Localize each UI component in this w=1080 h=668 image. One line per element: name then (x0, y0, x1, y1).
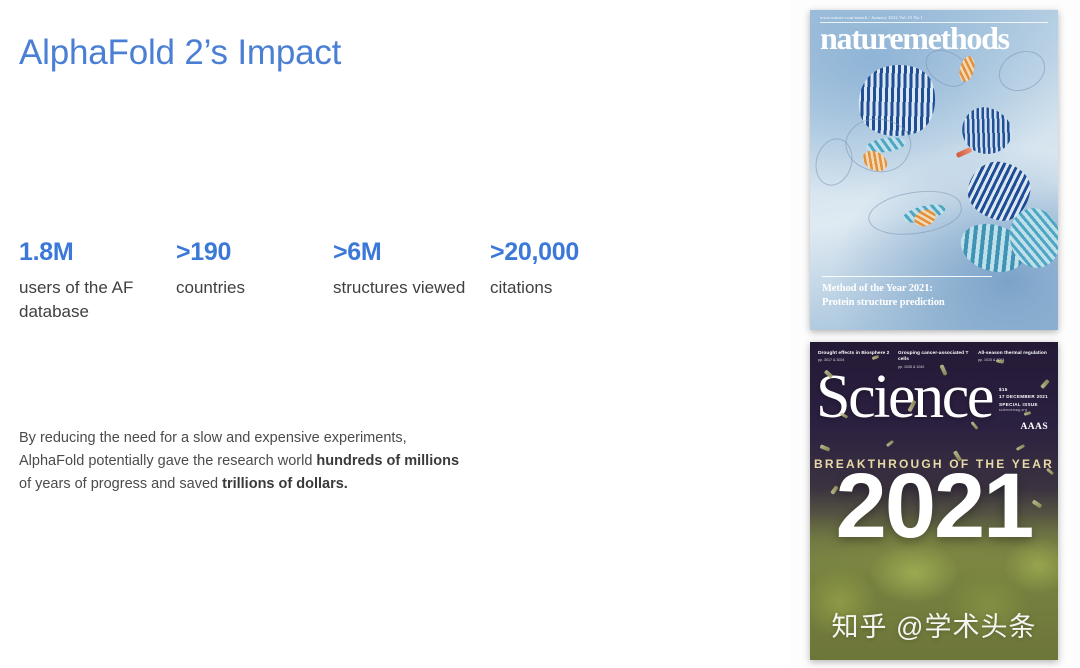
summary-paragraph: By reducing the need for a slow and expe… (19, 427, 619, 496)
stat-label: structures viewed (333, 276, 473, 301)
stat-value: 1.8M (19, 238, 176, 267)
teaser-pages: pp. 1015 & 1064 (978, 358, 1050, 362)
teaser-title: Grouping cancer-associated T cells (898, 351, 970, 364)
issue-date: 17 DECEMBER 2021 (999, 393, 1048, 400)
science-cover-image: Drought effects in Biosphere 2 pp. 3017 … (810, 342, 1058, 660)
teaser-pages: pp. 3017 & 3024 (818, 358, 890, 362)
stat-value: >190 (176, 238, 333, 267)
caption-line-2: Protein structure prediction (822, 296, 992, 310)
stat-item-structures-viewed: >6M structures viewed (333, 238, 490, 325)
summary-line-2-prefix: AlphaFold potentially gave the research … (19, 453, 316, 469)
science-issue-info: $15 17 DECEMBER 2021 SPECIAL ISSUE scien… (999, 386, 1048, 413)
masthead-word-nature: nature (820, 20, 902, 56)
breakthrough-label: BREAKTHROUGH OF THE YEAR (810, 457, 1058, 471)
summary-emphasis-millions: hundreds of millions (316, 453, 459, 469)
stat-label: countries (176, 276, 316, 301)
stat-item-countries: >190 countries (176, 238, 333, 325)
stat-label: citations (490, 276, 630, 301)
summary-line-1: By reducing the need for a slow and expe… (19, 430, 407, 446)
caption-line-1: Method of the Year 2021: (822, 282, 992, 296)
issue-type: SPECIAL ISSUE (999, 401, 1048, 408)
nature-methods-cover-image: www.nature.com/nmeth / January 2022 Vol.… (810, 10, 1058, 330)
stat-value: >20,000 (490, 238, 647, 267)
stat-item-af-users: 1.8M users of the AF database (19, 238, 176, 325)
masthead-word-methods: methods (902, 20, 1008, 56)
stat-item-citations: >20,000 citations (490, 238, 647, 325)
stat-value: >6M (333, 238, 490, 267)
zhihu-watermark: 知乎 @学术头条 (810, 605, 1058, 644)
page-title: AlphaFold 2’s Impact (19, 33, 341, 73)
summary-line-3-prefix: of years of progress and saved (19, 476, 222, 492)
nature-methods-caption: Method of the Year 2021: Protein structu… (822, 276, 992, 310)
breakthrough-year: 2021 (810, 460, 1058, 552)
nature-methods-masthead: naturemethods (820, 22, 1050, 54)
teaser-title: All-season thermal regulation (978, 351, 1050, 357)
journal-covers-column: www.nature.com/nmeth / January 2022 Vol.… (790, 0, 1080, 668)
statistics-row: 1.8M users of the AF database >190 count… (19, 238, 759, 325)
summary-emphasis-dollars: trillions of dollars. (222, 476, 348, 492)
aaas-logo: AAAS (1021, 422, 1048, 432)
science-masthead: Science (816, 366, 992, 428)
slide-content-area: AlphaFold 2’s Impact 1.8M users of the A… (0, 0, 790, 668)
stat-label: users of the AF database (19, 276, 159, 325)
